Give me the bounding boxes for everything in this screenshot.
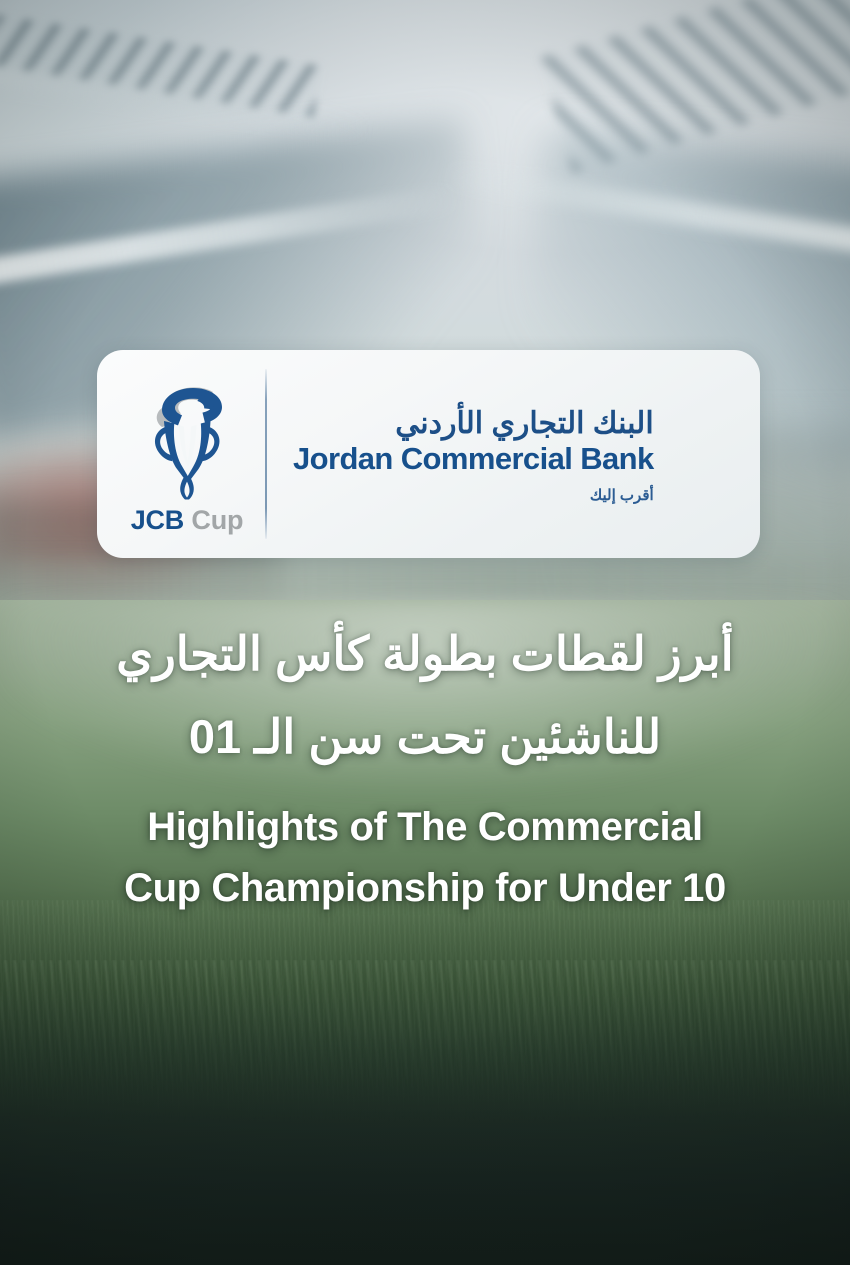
- brand-logo-card: JCB Cup البنك التجاري الأردني Jordan Com…: [97, 350, 760, 558]
- jcb-wordmark-text: JCB: [131, 505, 184, 535]
- bank-name-arabic: البنك التجاري الأردني: [293, 405, 654, 443]
- jcb-cup-trophy-icon: [135, 375, 239, 505]
- bank-name-english: Jordan Commercial Bank: [293, 442, 654, 476]
- bank-tagline-arabic: أقرب إليك: [293, 488, 654, 503]
- cup-wordmark-text: Cup: [191, 505, 243, 535]
- headline-block: أبرز لقطات بطولة كأس التجاري للناشئين تح…: [0, 620, 850, 919]
- jcb-cup-lockup: JCB Cup: [97, 350, 265, 558]
- headline-arabic-gap: [0, 689, 850, 703]
- headline-english-line-2: Cup Championship for Under 10: [0, 858, 850, 919]
- logo-divider: [265, 369, 267, 539]
- jcb-cup-wordmark: JCB Cup: [131, 507, 244, 534]
- poster-canvas: JCB Cup البنك التجاري الأردني Jordan Com…: [0, 0, 850, 1265]
- bank-name-block: البنك التجاري الأردني Jordan Commercial …: [293, 405, 654, 504]
- headline-arabic-line-2: للناشئين تحت سن الـ 10: [0, 703, 850, 772]
- headline-language-gap: [0, 771, 850, 797]
- headline-english-line-1: Highlights of The Commercial: [0, 797, 850, 858]
- headline-arabic-line-1: أبرز لقطات بطولة كأس التجاري: [0, 620, 850, 689]
